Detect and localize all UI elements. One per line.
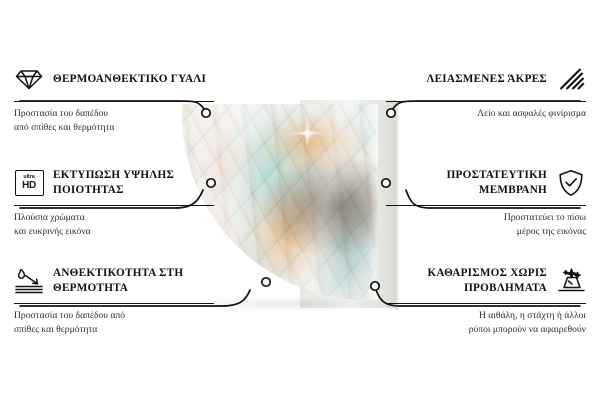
feature-header: ΘΕΡΜΟΑΝΘΕΚΤΙΚΟ ΓΥΑΛΙ — [14, 62, 214, 96]
feature-header: ultra HD ΕΚΤΥΠΩΣΗ ΥΨΗΛΗΣ ΠΟΙΟΤΗΤΑΣ — [14, 166, 214, 200]
feature-divider — [14, 205, 214, 206]
shield-check-icon — [556, 168, 586, 198]
feature-divider — [386, 101, 586, 102]
feature-divider — [14, 101, 214, 102]
feature-title: ΠΡΟΣΤΑΤΕΥΤΙΚΗ ΜΕΜΒΡΑΝΗ — [386, 168, 547, 198]
feature-divider — [386, 303, 586, 304]
feature-description: Προστασία του δαπέδου από σπίθες και θερ… — [14, 107, 214, 134]
feature-title: ΚΑΘΑΡΙΣΜΟΣ ΧΩΡΙΣ ΠΡΟΒΛΗΜΑΤΑ — [386, 266, 547, 296]
feature-description: Πλούσια χρώματα και ευκρινής εικόνα — [14, 211, 214, 238]
feature-heat-durability: ΑΝΘΕΚΤΙΚΟΤΗΤΑ ΣΤΗ ΘΕΡΜΟΤΗΤΑ Προστασία το… — [14, 264, 214, 336]
feature-title: ΕΚΤΥΠΩΣΗ ΥΨΗΛΗΣ ΠΟΙΟΤΗΤΑΣ — [53, 168, 214, 198]
feature-description: Λείο και ασφαλές φινίρισμα — [386, 107, 586, 121]
feature-header: ΛΕΙΑΣΜΕΝΕΣ ΆΚΡΕΣ — [386, 62, 586, 96]
feature-easy-cleaning: ΚΑΘΑΡΙΣΜΟΣ ΧΩΡΙΣ ΠΡΟΒΛΗΜΑΤΑ Η αιθάλη, η … — [386, 264, 586, 336]
sparkle-clean-icon — [556, 266, 586, 296]
feature-title: ΑΝΘΕΚΤΙΚΟΤΗΤΑ ΣΤΗ ΘΕΡΜΟΤΗΤΑ — [53, 266, 214, 296]
feature-description: Προστασία του δαπέδου από σπίθες και θερ… — [14, 309, 214, 336]
ultra-hd-badge-big-text: HD — [22, 181, 36, 191]
ultra-hd-icon: ultra HD — [14, 168, 44, 198]
feature-header: ΚΑΘΑΡΙΣΜΟΣ ΧΩΡΙΣ ΠΡΟΒΛΗΜΑΤΑ — [386, 264, 586, 298]
feature-heat-resistant-glass: ΘΕΡΜΟΑΝΘΕΚΤΙΚΟ ΓΥΑΛΙ Προστασία του δαπέδ… — [14, 62, 214, 134]
feature-description: Η αιθάλη, η στάχτη ή άλλοι ρύποι μπορούν… — [386, 309, 586, 336]
polished-edge-icon — [556, 64, 586, 94]
feature-protective-membrane: ΠΡΟΣΤΑΤΕΥΤΙΚΗ ΜΕΜΒΡΑΝΗ Προστατεύει το πί… — [386, 166, 586, 238]
ultra-hd-badge: ultra HD — [15, 170, 44, 196]
feature-header: ΑΝΘΕΚΤΙΚΟΤΗΤΑ ΣΤΗ ΘΕΡΜΟΤΗΤΑ — [14, 264, 214, 298]
feature-title: ΘΕΡΜΟΑΝΘΕΚΤΙΚΟ ΓΥΑΛΙ — [53, 72, 206, 87]
feature-polished-edges: ΛΕΙΑΣΜΕΝΕΣ ΆΚΡΕΣ Λείο και ασφαλές φινίρι… — [386, 62, 586, 121]
feature-header: ΠΡΟΣΤΑΤΕΥΤΙΚΗ ΜΕΜΒΡΑΝΗ — [386, 166, 586, 200]
feature-divider — [386, 205, 586, 206]
diamond-icon — [14, 64, 44, 94]
feature-title: ΛΕΙΑΣΜΕΝΕΣ ΆΚΡΕΣ — [426, 72, 547, 87]
product-feature-infographic: ΘΕΡΜΟΑΝΘΕΚΤΙΚΟ ΓΥΑΛΙ Προστασία του δαπέδ… — [0, 0, 600, 400]
feature-description: Προστατεύει το πίσω μέρος της εικόνας — [386, 211, 586, 238]
product-image — [182, 88, 418, 314]
feature-high-quality-print: ultra HD ΕΚΤΥΠΩΣΗ ΥΨΗΛΗΣ ΠΟΙΟΤΗΤΑΣ Πλούσ… — [14, 166, 214, 238]
feature-divider — [14, 303, 214, 304]
flame-deflect-icon — [14, 266, 44, 296]
